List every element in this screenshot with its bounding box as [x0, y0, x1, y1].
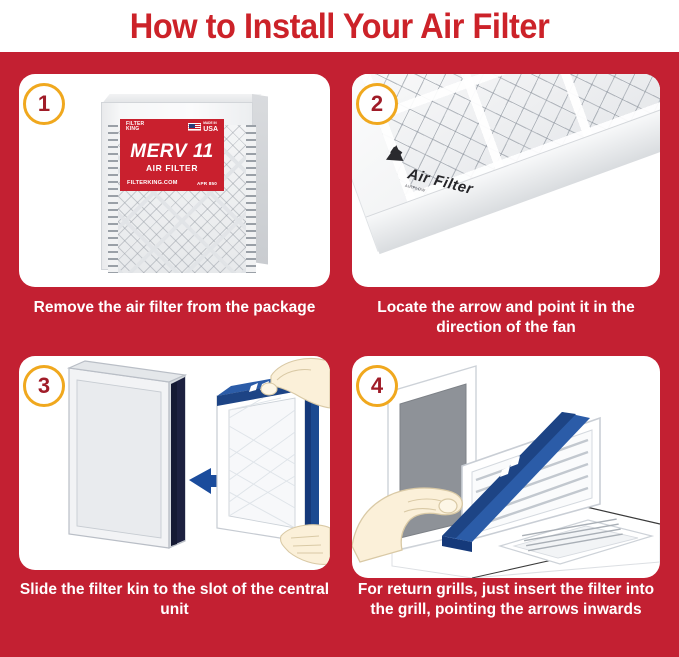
step-1-number-badge: 1: [23, 83, 65, 125]
apr-rating-text: APR 850: [197, 181, 217, 186]
filter-king-logo: FILTER KING: [126, 122, 144, 133]
return-grill-illustration: [352, 356, 660, 578]
lower-hand: [280, 525, 330, 565]
product-type-text: AIR FILTER: [120, 163, 224, 173]
filter-corner-body: Air Filter AIRFLOW: [352, 74, 660, 282]
slide-filter-illustration: [19, 356, 330, 570]
step-2-number: 2: [371, 93, 383, 115]
country-text: USA: [203, 126, 218, 133]
merv-rating-text: MERV 11: [120, 141, 224, 163]
step-1-number: 1: [38, 93, 50, 115]
filter-brand-label: FILTER KING MADE IN USA MERV 11 AIR FILT…: [120, 119, 224, 191]
made-in-usa-badge: MADE IN USA: [188, 122, 218, 133]
step-4-image-panel: [352, 356, 660, 578]
usa-flag-icon: [188, 123, 201, 131]
air-filter-product-photo: FILTER KING MADE IN USA MERV 11 AIR FILT…: [97, 92, 269, 272]
step-3-image-panel: [19, 356, 330, 570]
website-text: FILTERKING.COM: [127, 180, 178, 186]
filter-left-pleat-edge: [108, 125, 118, 273]
title-band: How to Install Your Air Filter: [0, 0, 679, 52]
step-2-caption: Locate the arrow and point it in the dir…: [352, 298, 660, 339]
filter-right-pleat-edge: [246, 125, 256, 273]
step-1-image-panel: FILTER KING MADE IN USA MERV 11 AIR FILT…: [19, 74, 330, 287]
brand-line-2: KING: [126, 127, 144, 132]
infographic-root: How to Install Your Air Filter FILTER KI…: [0, 0, 679, 657]
step-2-number-badge: 2: [356, 83, 398, 125]
step-3-number: 3: [38, 375, 50, 397]
step-4-number-badge: 4: [356, 365, 398, 407]
step-4-number: 4: [371, 375, 383, 397]
step-2-image-panel: Air Filter AIRFLOW: [352, 74, 660, 287]
step-3-caption: Slide the filter kin to the slot of the …: [19, 580, 330, 621]
step-3-number-badge: 3: [23, 365, 65, 407]
step-1-caption: Remove the air filter from the package: [19, 298, 330, 318]
page-title: How to Install Your Air Filter: [130, 9, 549, 44]
central-unit-housing: [69, 361, 185, 548]
filter-front-face: FILTER KING MADE IN USA MERV 11 AIR FILT…: [101, 102, 253, 270]
made-in-text: MADE IN: [203, 122, 218, 126]
filter-corner-closeup-photo: Air Filter AIRFLOW: [352, 74, 660, 287]
step-4-caption: For return grills, just insert the filte…: [352, 580, 660, 621]
